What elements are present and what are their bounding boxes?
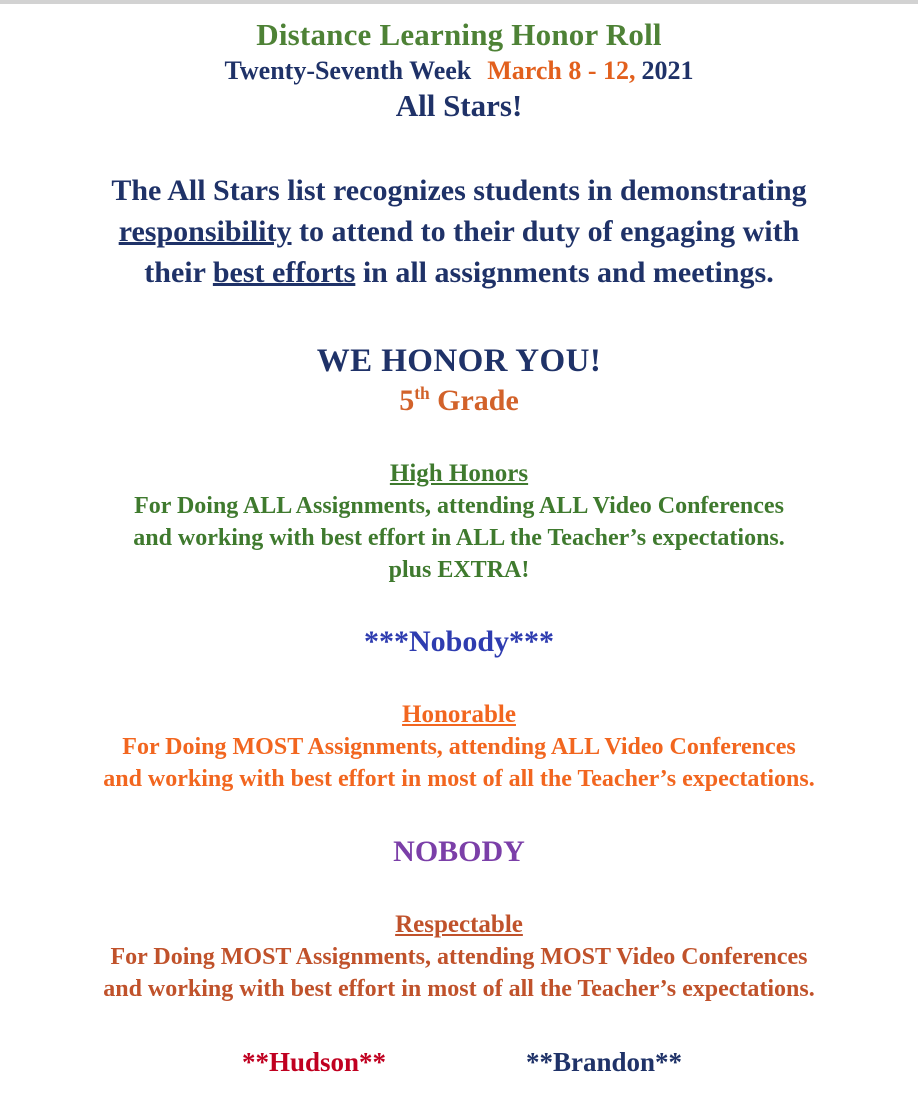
year-label: 2021 [642, 56, 694, 85]
intro-line-3-start: their [144, 256, 213, 289]
date-range: March 8 - 12, [487, 56, 635, 85]
student-name-hudson: **Hudson** [169, 1046, 459, 1078]
intro-line-1: The All Stars list recognizes students i… [39, 170, 879, 211]
section-body-respectable: For Doing MOST Assignments, attending MO… [0, 942, 918, 1006]
section-body-line: For Doing MOST Assignments, attending AL… [0, 732, 918, 764]
section-body-line: plus EXTRA! [0, 555, 918, 587]
intro-emphasis-responsibility: responsibility [119, 215, 292, 248]
section-heading-honorable: Honorable [0, 700, 918, 730]
section-heading-high-honors: High Honors [0, 459, 918, 489]
intro-emphasis-best-efforts: best efforts [213, 256, 355, 289]
honor-roll-document: Distance Learning Honor Roll Twenty-Seve… [0, 0, 918, 1110]
grade-ordinal-suffix: th [414, 383, 429, 403]
section-body-line: For Doing MOST Assignments, attending MO… [0, 942, 918, 974]
section-heading-respectable: Respectable [0, 910, 918, 940]
grade-number: 5 [399, 384, 414, 417]
section-honorable: Honorable For Doing MOST Assignments, at… [0, 700, 918, 870]
intro-line-2-rest: to attend to their duty of engaging with [292, 215, 800, 248]
week-and-date-line: Twenty-Seventh WeekMarch 8 - 12,2021 [0, 56, 918, 87]
intro-line-2: responsibility to attend to their duty o… [39, 211, 879, 252]
week-label: Twenty-Seventh Week [224, 56, 471, 85]
award-recipients-respectable: **Hudson** **Brandon** [0, 1046, 918, 1078]
document-subtitle: All Stars! [0, 88, 918, 124]
section-high-honors: High Honors For Doing ALL Assignments, a… [0, 459, 918, 661]
section-body-honorable: For Doing MOST Assignments, attending AL… [0, 732, 918, 796]
student-name-brandon: **Brandon** [459, 1046, 749, 1078]
section-body-line: and working with best effort in most of … [0, 974, 918, 1006]
award-recipients-honorable: NOBODY [0, 834, 918, 870]
section-body-line: and working with best effort in ALL the … [0, 523, 918, 555]
document-title: Distance Learning Honor Roll [0, 18, 918, 53]
award-recipients-high-honors: ***Nobody*** [0, 624, 918, 660]
section-body-high-honors: For Doing ALL Assignments, attending ALL… [0, 491, 918, 587]
honor-headline: WE HONOR YOU! [0, 343, 918, 380]
section-body-line: and working with best effort in most of … [0, 764, 918, 796]
intro-line-3-rest: in all assignments and meetings. [355, 256, 773, 289]
document-content: Distance Learning Honor Roll Twenty-Seve… [0, 0, 918, 1079]
intro-paragraph: The All Stars list recognizes students i… [39, 170, 879, 293]
intro-line-3: their best efforts in all assignments an… [39, 252, 879, 293]
section-body-line: For Doing ALL Assignments, attending ALL… [0, 491, 918, 523]
section-respectable: Respectable For Doing MOST Assignments, … [0, 910, 918, 1078]
grade-word: Grade [437, 384, 519, 417]
grade-label: 5th Grade [0, 384, 918, 419]
